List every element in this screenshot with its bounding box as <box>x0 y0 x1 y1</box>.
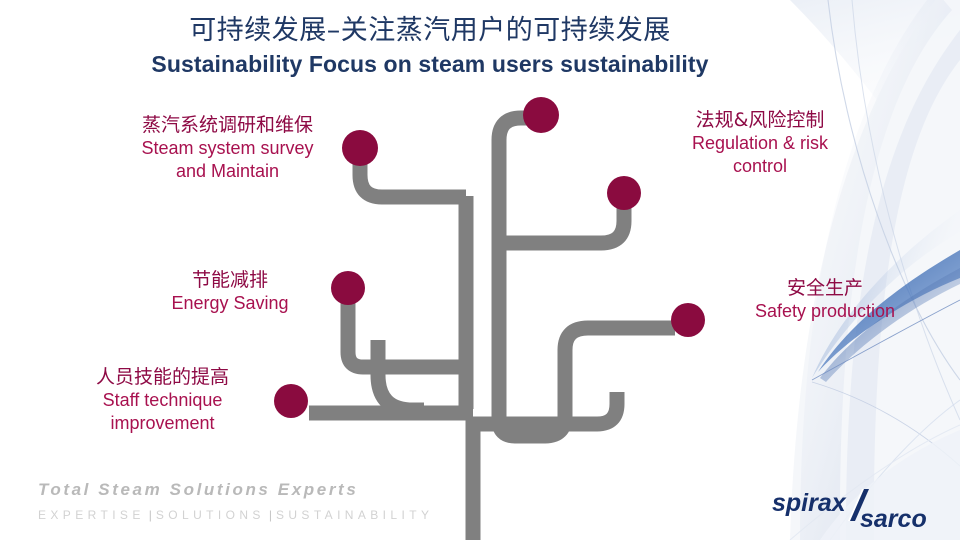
branch-unlabeled-right <box>499 206 624 243</box>
node-dot-energy-saving[interactable] <box>331 271 365 305</box>
label-steam-system-survey: 蒸汽系统调研和维保 Steam system survey and Mainta… <box>105 113 350 183</box>
label-safety-production: 安全生产 Safety production <box>725 276 925 323</box>
slide-canvas: 可持续发展–关注蒸汽用户的可持续发展 Sustainability Focus … <box>0 0 960 540</box>
node-dot-regulation[interactable] <box>523 97 559 133</box>
spirax-sarco-logo: spirax sarco <box>770 487 950 533</box>
logo-word-spirax: spirax <box>772 489 847 517</box>
label-energy-cn: 节能减排 <box>135 268 325 292</box>
label-safety-en-line1: Safety production <box>725 300 925 323</box>
node-dot-unlabeled-right[interactable] <box>607 176 641 210</box>
branch-regulation <box>499 118 534 297</box>
footer-pillars: EXPERTISE|SOLUTIONS|SUSTAINABILITY <box>38 508 433 522</box>
branch-left-hook <box>378 340 424 410</box>
label-staff-cn: 人员技能的提高 <box>60 365 265 389</box>
label-energy-en-line1: Energy Saving <box>135 292 325 315</box>
label-regulation-en-line1: Regulation & risk <box>660 132 860 155</box>
label-safety-cn: 安全生产 <box>725 276 925 300</box>
label-steam-survey-en-line2: and Maintain <box>105 160 350 183</box>
footer-pillar-solutions: SOLUTIONS <box>156 508 265 522</box>
label-staff-technique-improvement: 人员技能的提高 Staff technique improvement <box>60 365 265 435</box>
logo-word-sarco: sarco <box>860 505 927 533</box>
footer-separator-2: | <box>265 508 276 522</box>
label-regulation-risk-control: 法规&风险控制 Regulation & risk control <box>660 108 860 178</box>
label-steam-survey-en-line1: Steam system survey <box>105 137 350 160</box>
label-staff-en-line1: Staff technique <box>60 389 265 412</box>
label-staff-en-line2: improvement <box>60 412 265 435</box>
label-steam-survey-cn: 蒸汽系统调研和维保 <box>105 113 350 137</box>
label-regulation-cn: 法规&风险控制 <box>660 108 860 132</box>
label-regulation-en-line2: control <box>660 155 860 178</box>
footer-pillar-sustainability: SUSTAINABILITY <box>276 508 433 522</box>
node-dot-safety-production[interactable] <box>671 303 705 337</box>
branch-steam-survey <box>360 160 466 197</box>
footer-separator-1: | <box>145 508 156 522</box>
node-dot-staff-technique[interactable] <box>274 384 308 418</box>
footer-tagline: Total Steam Solutions Experts <box>38 480 358 500</box>
footer-pillar-expertise: EXPERTISE <box>38 508 145 522</box>
branch-energy <box>348 300 465 367</box>
label-energy-saving: 节能减排 Energy Saving <box>135 268 325 315</box>
branch-safety <box>499 297 675 436</box>
